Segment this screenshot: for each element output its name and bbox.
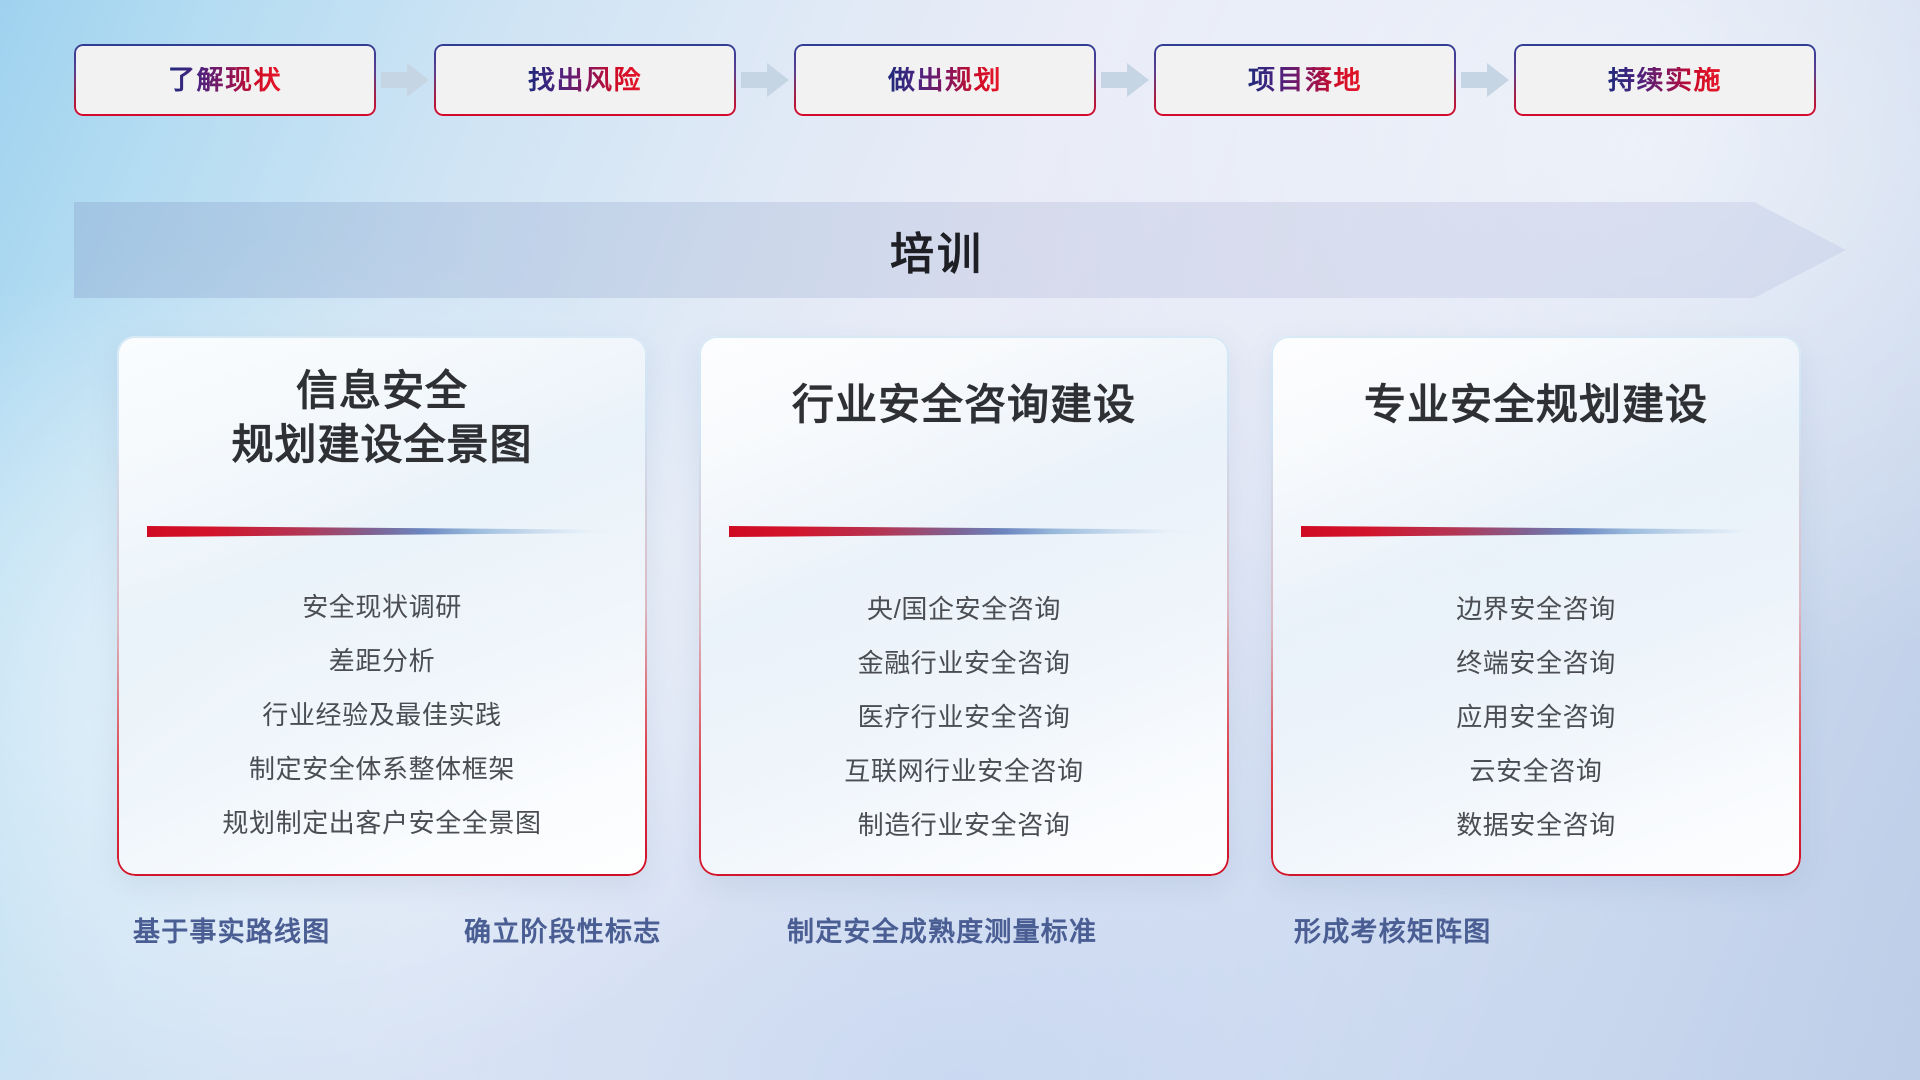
training-banner: 培训 — [74, 202, 1846, 298]
list-item: 制定安全体系整体框架 — [117, 756, 647, 782]
card-title: 信息安全 规划建设全景图 — [147, 336, 617, 472]
step-box-5[interactable]: 持续实施 — [1514, 44, 1816, 116]
step-label: 做出规划 — [888, 67, 1002, 94]
card-title-line-1: 信息安全 — [147, 364, 617, 418]
card-item-list: 央/国企安全咨询 金融行业安全咨询 医疗行业安全咨询 互联网行业安全咨询 制造行… — [699, 596, 1229, 838]
process-step-bar: 了解现状 找出风险 做出规划 项目落地 持续实施 — [0, 0, 1920, 160]
card-title-line-2: 规划建设全景图 — [147, 418, 617, 472]
list-item: 医疗行业安全咨询 — [699, 704, 1229, 730]
list-item: 金融行业安全咨询 — [699, 650, 1229, 676]
card-information-security-blueprint[interactable]: 信息安全 规划建设全景图 安全现状调研 差距分析 行业经验及最佳实践 制定安全体… — [117, 336, 647, 876]
card-title: 专业安全规划建设 — [1301, 336, 1771, 432]
step-box-1[interactable]: 了解现状 — [74, 44, 376, 116]
banner-title: 培训 — [74, 202, 1846, 298]
card-professional-security-planning[interactable]: 专业安全规划建设 边界安全咨询 终端安全咨询 应用安全咨询 云安全咨询 数据安全… — [1271, 336, 1801, 876]
arrow-right-icon — [1096, 44, 1154, 116]
card-title-line-1: 行业安全咨询建设 — [729, 378, 1199, 432]
list-item: 终端安全咨询 — [1271, 650, 1801, 676]
list-item: 行业经验及最佳实践 — [117, 702, 647, 728]
list-item: 应用安全咨询 — [1271, 704, 1801, 730]
step-box-2[interactable]: 找出风险 — [434, 44, 736, 116]
step-label: 找出风险 — [528, 67, 642, 94]
list-item: 规划制定出客户安全全景图 — [117, 810, 647, 836]
list-item: 制造行业安全咨询 — [699, 812, 1229, 838]
step-label: 项目落地 — [1248, 67, 1362, 94]
card-industry-security-consulting[interactable]: 行业安全咨询建设 央/国企安全咨询 金融行业安全咨询 医疗行业安全咨询 互联网行… — [699, 336, 1229, 876]
footnote-4: 形成考核矩阵图 — [1294, 910, 1491, 949]
step-label: 持续实施 — [1608, 67, 1722, 94]
card-title: 行业安全咨询建设 — [729, 336, 1199, 432]
card-divider — [1301, 526, 1775, 537]
list-item: 云安全咨询 — [1271, 758, 1801, 784]
card-item-list: 边界安全咨询 终端安全咨询 应用安全咨询 云安全咨询 数据安全咨询 — [1271, 596, 1801, 838]
footnote-1: 基于事实路线图 — [133, 910, 330, 949]
card-title-line-1: 专业安全规划建设 — [1301, 378, 1771, 432]
step-box-4[interactable]: 项目落地 — [1154, 44, 1456, 116]
footnote-3: 制定安全成熟度测量标准 — [787, 910, 1097, 949]
list-item: 差距分析 — [117, 648, 647, 674]
divider-gradient-bar — [1301, 526, 1775, 537]
list-item: 互联网行业安全咨询 — [699, 758, 1229, 784]
list-item: 边界安全咨询 — [1271, 596, 1801, 622]
footnote-2: 确立阶段性标志 — [464, 910, 661, 949]
card-group: 信息安全 规划建设全景图 安全现状调研 差距分析 行业经验及最佳实践 制定安全体… — [0, 336, 1920, 876]
divider-gradient-bar — [729, 526, 1203, 537]
arrow-right-icon — [376, 44, 434, 116]
arrow-right-icon — [736, 44, 794, 116]
list-item: 安全现状调研 — [117, 594, 647, 620]
list-item: 数据安全咨询 — [1271, 812, 1801, 838]
card-divider — [729, 526, 1203, 537]
card-divider — [147, 526, 621, 537]
arrow-right-icon — [1456, 44, 1514, 116]
step-label: 了解现状 — [168, 67, 282, 94]
card-item-list: 安全现状调研 差距分析 行业经验及最佳实践 制定安全体系整体框架 规划制定出客户… — [117, 594, 647, 836]
step-box-3[interactable]: 做出规划 — [794, 44, 1096, 116]
divider-gradient-bar — [147, 526, 621, 537]
footnote-group: 基于事实路线图 确立阶段性标志 制定安全成熟度测量标准 形成考核矩阵图 — [0, 910, 1920, 980]
list-item: 央/国企安全咨询 — [699, 596, 1229, 622]
